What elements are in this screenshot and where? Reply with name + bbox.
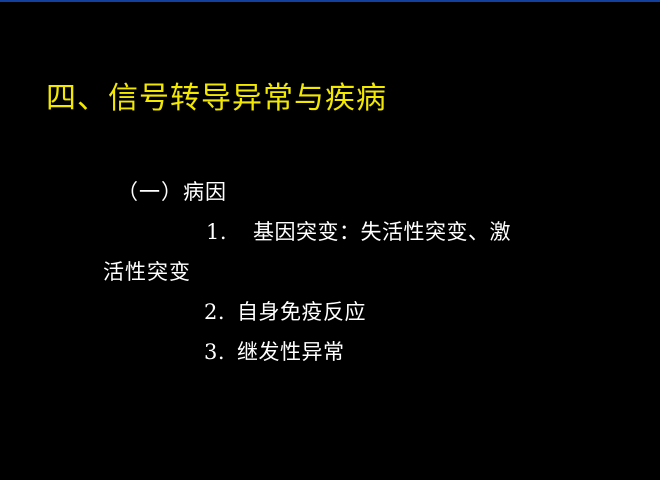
list-item-label: 基因突变：失活性突变、激: [253, 220, 511, 244]
list-item: 3.继发性异常: [0, 332, 660, 372]
list-item-label: 自身免疫反应: [237, 300, 366, 324]
list-item-label: 继发性异常: [237, 340, 345, 364]
section-heading: （一）病因: [0, 172, 660, 212]
list-item-continuation: 活性突变: [0, 252, 660, 292]
list-item-number: 2.: [204, 300, 225, 324]
slide-body: （一）病因 1.基因突变：失活性突变、激 活性突变 2.自身免疫反应 3.继发性…: [0, 172, 660, 372]
page-title: 四、信号转导异常与疾病: [46, 80, 387, 118]
list-item: 2.自身免疫反应: [0, 292, 660, 332]
slide-canvas: 四、信号转导异常与疾病 （一）病因 1.基因突变：失活性突变、激 活性突变 2.…: [0, 0, 660, 480]
list-item-number: 1.: [206, 220, 227, 244]
list-item-number: 3.: [204, 340, 225, 364]
list-item: 1.基因突变：失活性突变、激: [0, 212, 660, 252]
slide-top-edge-highlight: [0, 0, 660, 2]
